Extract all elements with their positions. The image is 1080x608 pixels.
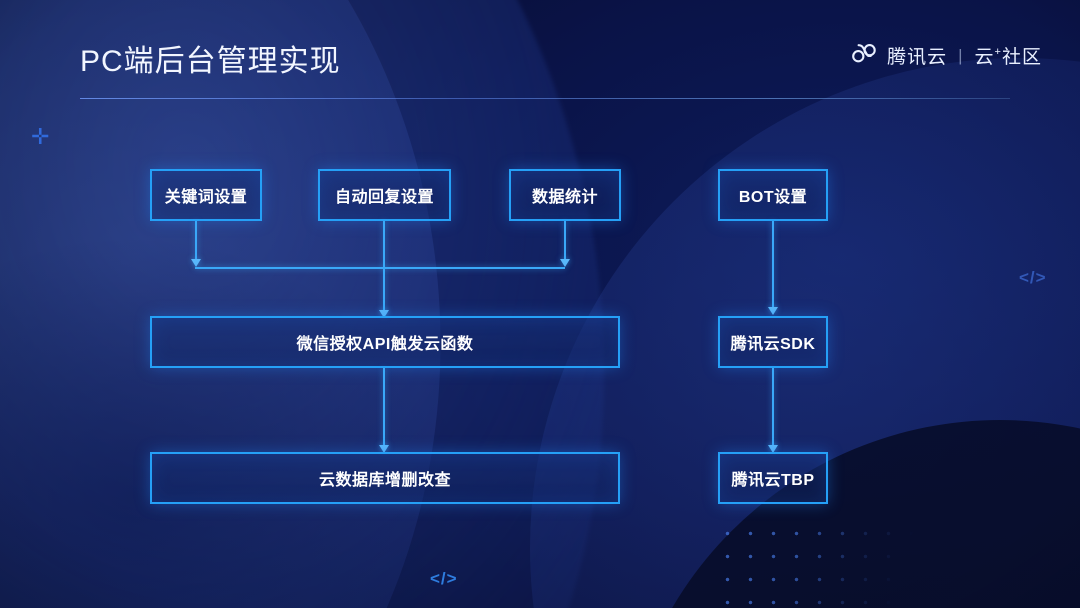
flow-box-auto-reply-settings[interactable]: 自动回复设置 bbox=[318, 169, 451, 221]
header-divider bbox=[80, 98, 1010, 99]
flow-box-label: 云数据库增删改查 bbox=[319, 466, 451, 490]
flow-box-cloud-database-crud[interactable]: 云数据库增删改查 bbox=[150, 452, 620, 504]
brand-logo: 腾讯云 | 云+社区 bbox=[851, 42, 1042, 69]
code-glyph-right-icon: </> bbox=[1019, 268, 1047, 288]
page-title: PC端后台管理实现 bbox=[80, 36, 341, 80]
flow-box-label: 腾讯云SDK bbox=[731, 330, 816, 354]
connector-horizontal-bus bbox=[195, 267, 565, 269]
dot-grid-pattern bbox=[712, 518, 940, 608]
flow-box-label: BOT设置 bbox=[739, 183, 807, 207]
code-glyph-bottom-icon: </> bbox=[430, 569, 458, 589]
arrowhead-keyword bbox=[191, 259, 201, 267]
connector-bot-to-sdk bbox=[772, 221, 774, 309]
flow-box-label: 微信授权API触发云函数 bbox=[297, 330, 474, 354]
arrowhead-statistics bbox=[560, 259, 570, 267]
slide-canvas: PC端后台管理实现 腾讯云 | 云+社区 关键词设置 自动回复设置 数据统计 微… bbox=[0, 0, 1080, 608]
flow-box-label: 数据统计 bbox=[532, 183, 598, 207]
flow-box-bot-settings[interactable]: BOT设置 bbox=[718, 169, 828, 221]
flow-box-tencent-cloud-sdk[interactable]: 腾讯云SDK bbox=[718, 316, 828, 368]
flow-box-label: 自动回复设置 bbox=[335, 183, 434, 207]
brand-community-label: 云+社区 bbox=[975, 42, 1042, 69]
brand-separator: | bbox=[958, 46, 963, 66]
connector-sdk-to-tbp bbox=[772, 368, 774, 448]
flow-box-data-statistics[interactable]: 数据统计 bbox=[509, 169, 621, 221]
flow-box-tencent-cloud-tbp[interactable]: 腾讯云TBP bbox=[718, 452, 828, 504]
connector-middle-to-bottom bbox=[383, 368, 385, 448]
plus-glyph-icon: ✛ bbox=[31, 126, 49, 148]
flow-box-label: 关键词设置 bbox=[165, 183, 248, 207]
flow-box-keyword-settings[interactable]: 关键词设置 bbox=[150, 169, 262, 221]
arrowhead-bot-to-sdk bbox=[768, 307, 778, 315]
tencent-cloud-logo-icon bbox=[851, 42, 878, 69]
connector-statistics-down bbox=[564, 221, 566, 260]
flow-box-wechat-auth-api[interactable]: 微信授权API触发云函数 bbox=[150, 316, 620, 368]
flow-box-label: 腾讯云TBP bbox=[731, 466, 814, 490]
connector-keyword-down bbox=[195, 221, 197, 260]
brand-name-label: 腾讯云 bbox=[887, 42, 947, 69]
